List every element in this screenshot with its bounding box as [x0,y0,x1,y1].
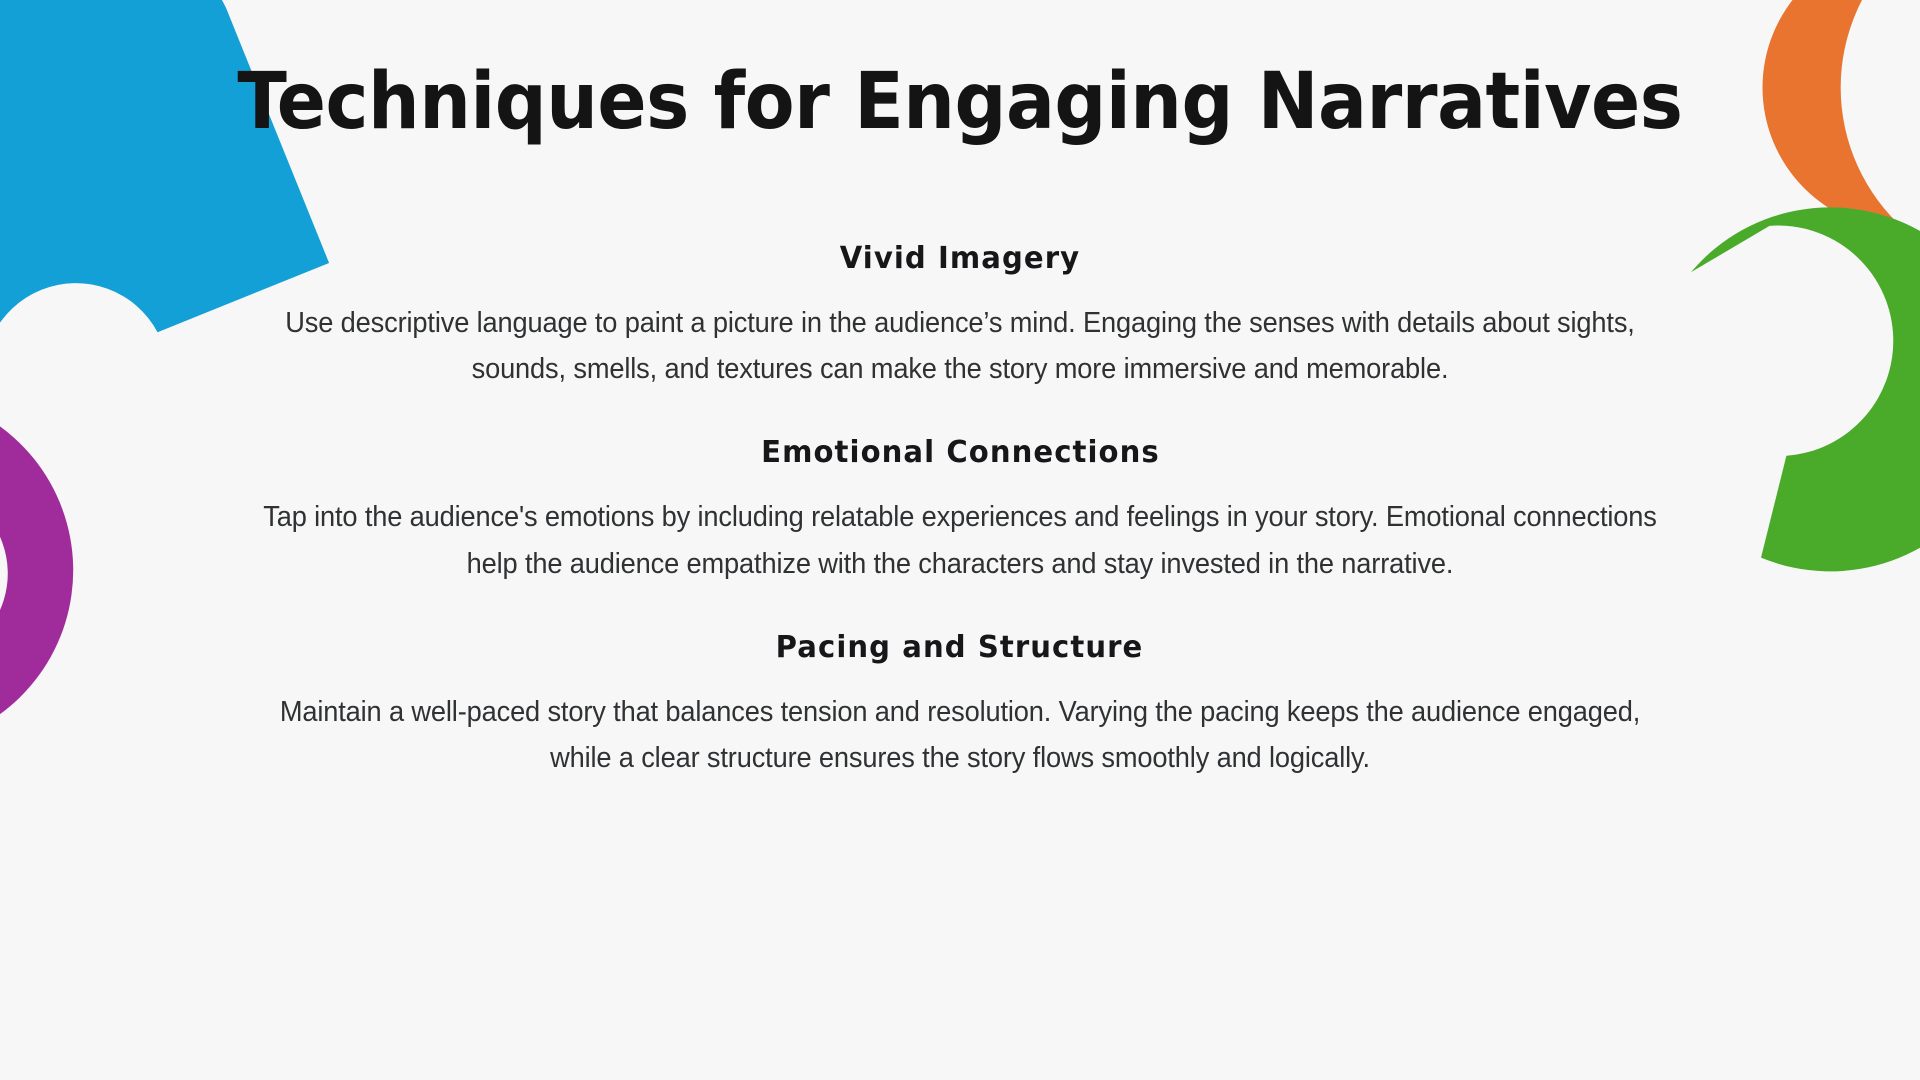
section-vivid-imagery: Vivid Imagery Use descriptive language t… [200,241,1720,392]
section-pacing-and-structure: Pacing and Structure Maintain a well-pac… [200,630,1720,781]
section-heading: Vivid Imagery [840,241,1080,276]
section-body: Maintain a well-paced story that balance… [249,689,1672,781]
section-body: Tap into the audience's emotions by incl… [249,494,1672,586]
section-body: Use descriptive language to paint a pict… [249,300,1672,392]
section-heading: Pacing and Structure [776,630,1144,665]
page-title: Techniques for Engaging Narratives [237,62,1682,143]
sections-list: Vivid Imagery Use descriptive language t… [200,241,1720,781]
section-heading: Emotional Connections [761,435,1160,470]
slide-root: Techniques for Engaging Narratives Vivid… [0,0,1920,1080]
section-emotional-connections: Emotional Connections Tap into the audie… [200,435,1720,586]
